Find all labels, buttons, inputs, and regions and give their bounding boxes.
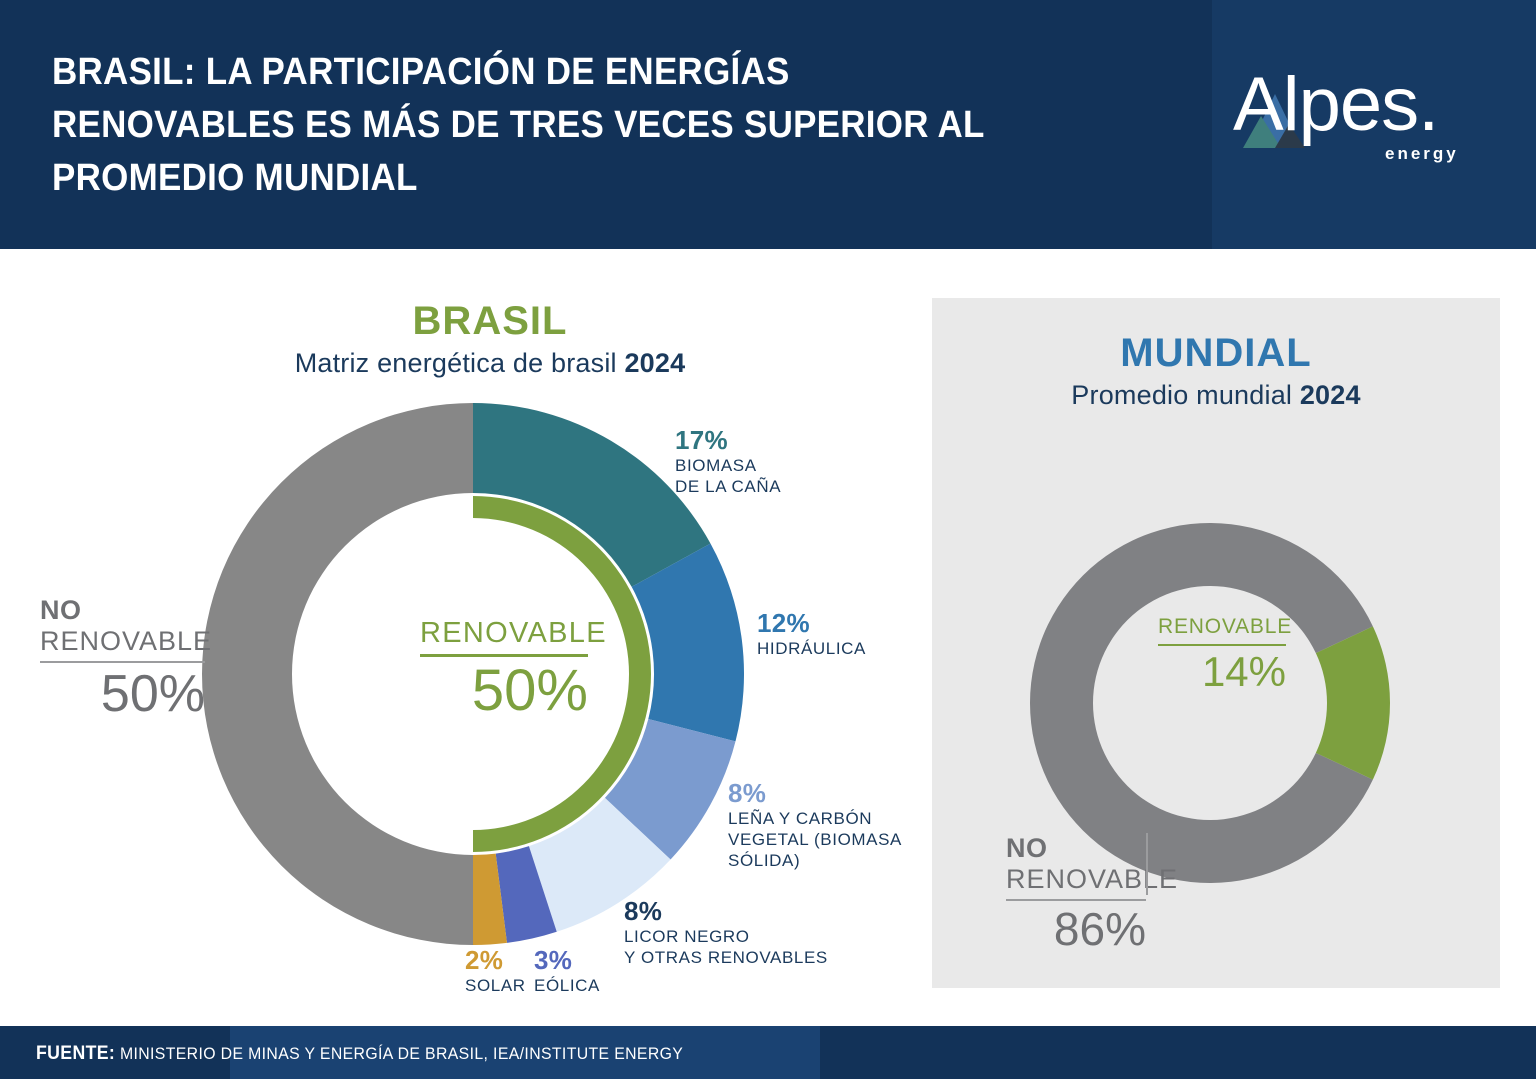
alpes-energy-logo: Alpes. energy [1233, 62, 1473, 182]
mundial-renovable-value: 14% [1158, 646, 1286, 698]
mundial-renovable-center: RENOVABLE 14% [1158, 614, 1286, 698]
brasil-renovable-caption: RENOVABLE [420, 616, 588, 650]
brasil-no-renovable-line1: NO [40, 595, 205, 625]
brasil-no-renovable-line2: RENOVABLE [40, 625, 205, 657]
callout-eolica-label-line1: EÓLICA [534, 975, 600, 996]
mundial-chart-header: MUNDIAL Promedio mundial 2024 [956, 330, 1476, 414]
callout-licor-label: LICOR NEGRO Y OTRAS RENOVABLES [624, 926, 828, 968]
page-title-lead: BRASIL: [52, 51, 196, 93]
page-title: BRASIL: LA PARTICIPACIÓN DE ENERGÍAS REN… [52, 46, 1000, 205]
logo-tagline: energy [1385, 144, 1459, 164]
callout-eolica-label: EÓLICA [534, 975, 600, 996]
mundial-subheading-text: Promedio mundial [1071, 380, 1300, 410]
logo-wordmark: Alpes. [1233, 62, 1438, 148]
callout-biomasa-label: BIOMASA DE LA CAÑA [675, 455, 781, 497]
mundial-subheading: Promedio mundial 2024 [956, 376, 1476, 414]
brasil-renovable-center: RENOVABLE 50% [420, 616, 588, 725]
mundial-no-renovable-line2: RENOVABLE [1006, 863, 1146, 895]
callout-biomasa-percent: 17% [675, 425, 781, 455]
callout-lena-y-carbon-vegetal: 8% LEÑA Y CARBÓN VEGETAL (BIOMASA SÓLIDA… [728, 778, 902, 871]
callout-lena-label-line3: SÓLIDA) [728, 850, 902, 871]
brasil-chart-header: BRASIL Matriz energética de brasil 2024 [230, 298, 750, 382]
mundial-subheading-year: 2024 [1300, 380, 1361, 410]
callout-lena-label-line2: VEGETAL (BIOMASA [728, 829, 902, 850]
callout-solar: 2% SOLAR [465, 945, 526, 996]
donut-segment [1316, 626, 1390, 779]
mundial-donut-chart [1030, 523, 1390, 883]
callout-eolica: 3% EÓLICA [534, 945, 600, 996]
brasil-renovable-value: 50% [420, 657, 588, 725]
brasil-subheading-text: Matriz energética de brasil [295, 348, 625, 378]
footer-source-text: MINISTERIO DE MINAS Y ENERGÍA DE BRASIL,… [115, 1044, 683, 1063]
callout-hidraulica: 12% HIDRÁULICA [757, 608, 866, 659]
mundial-no-renovable-value: 86% [1006, 901, 1146, 957]
mundial-heading: MUNDIAL [956, 330, 1476, 376]
callout-biomasa-label-line1: BIOMASA [675, 455, 781, 476]
callout-lena-label-line1: LEÑA Y CARBÓN [728, 808, 902, 829]
mundial-ring [1030, 523, 1390, 883]
callout-lena-label: LEÑA Y CARBÓN VEGETAL (BIOMASA SÓLIDA) [728, 808, 902, 871]
callout-biomasa-de-la-cana: 17% BIOMASA DE LA CAÑA [675, 425, 781, 497]
brasil-subheading-year: 2024 [624, 348, 685, 378]
callout-eolica-percent: 3% [534, 945, 600, 975]
callout-licor-label-line1: LICOR NEGRO [624, 926, 828, 947]
mundial-connector-line [1146, 833, 1148, 895]
callout-licor-percent: 8% [624, 896, 828, 926]
donut-segment [1030, 523, 1373, 883]
brasil-no-renovable-stat: NO RENOVABLE 50% [40, 595, 205, 725]
callout-solar-label: SOLAR [465, 975, 526, 996]
callout-hidraulica-percent: 12% [757, 608, 866, 638]
footer-source-label: FUENTE: [36, 1043, 115, 1064]
callout-hidraulica-label: HIDRÁULICA [757, 638, 866, 659]
mundial-no-renovable-stat: NO RENOVABLE 86% [1006, 833, 1146, 957]
brasil-subheading: Matriz energética de brasil 2024 [230, 344, 750, 382]
callout-licor-negro: 8% LICOR NEGRO Y OTRAS RENOVABLES [624, 896, 828, 968]
callout-solar-percent: 2% [465, 945, 526, 975]
callout-biomasa-label-line2: DE LA CAÑA [675, 476, 781, 497]
callout-licor-label-line2: Y OTRAS RENOVABLES [624, 947, 828, 968]
mundial-renovable-caption: RENOVABLE [1158, 614, 1286, 640]
brasil-heading: BRASIL [230, 298, 750, 344]
brasil-no-renovable-value: 50% [40, 663, 205, 725]
footer-source: FUENTE: MINISTERIO DE MINAS Y ENERGÍA DE… [36, 1043, 683, 1065]
callout-hidraulica-label-line1: HIDRÁULICA [757, 638, 866, 659]
mundial-no-renovable-line1: NO [1006, 833, 1146, 863]
callout-solar-label-line1: SOLAR [465, 975, 526, 996]
callout-lena-percent: 8% [728, 778, 902, 808]
